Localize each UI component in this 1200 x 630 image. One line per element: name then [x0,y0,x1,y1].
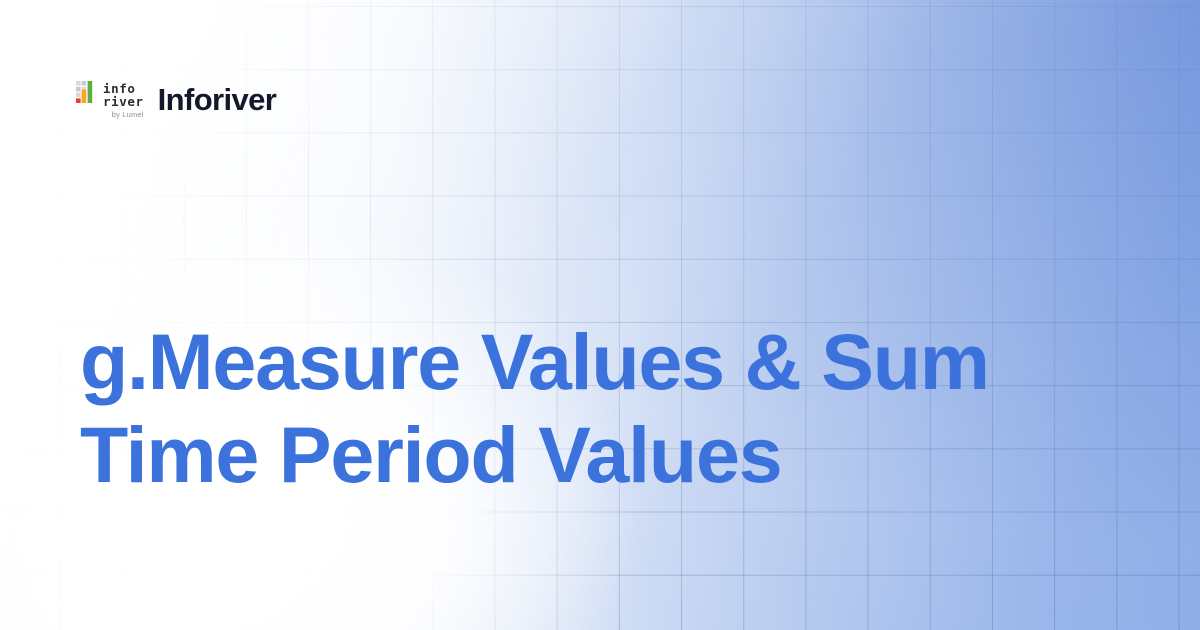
brand-lockup: info river by Lumel Inforiver [76,81,276,119]
inforiver-logo-wordmark: info river by Lumel [103,81,144,119]
og-card: info river by Lumel Inforiver g.Measure … [0,0,1200,630]
page-title: g.Measure Values & Sum Time Period Value… [80,315,1040,501]
logo-word-river: river [103,95,144,108]
inforiver-logo: info river by Lumel [76,81,144,119]
logo-byline: by Lumel [112,111,144,119]
brand-name: Inforiver [158,84,277,115]
inforiver-logo-mark-icon [76,81,98,111]
